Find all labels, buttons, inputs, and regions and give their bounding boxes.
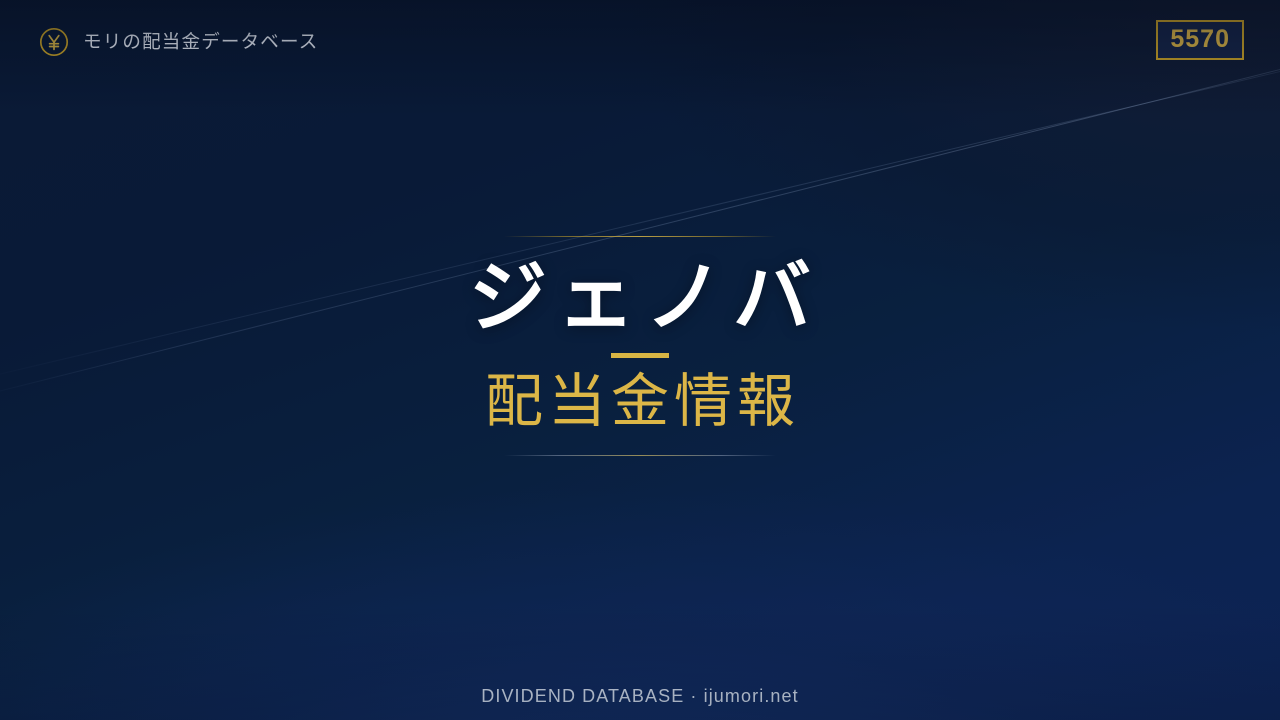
subtitle-label: 配当金情報 — [0, 370, 1280, 435]
title-bottom-rule — [504, 455, 776, 456]
company-name-title: ジェノバ — [0, 255, 1280, 339]
title-block: ジェノバ 配当金情報 — [0, 236, 1280, 456]
site-name-label: モリの配当金データベース — [83, 33, 318, 52]
gold-divider — [611, 353, 669, 358]
stock-code-badge[interactable]: 5570 — [1156, 20, 1244, 60]
yen-circle-icon — [38, 26, 70, 58]
footer-credit: DIVIDEND DATABASE · ijumori.net — [0, 686, 1280, 707]
page-header: モリの配当金データベース 5570 — [0, 0, 1280, 90]
slide-canvas: モリの配当金データベース 5570 ジェノバ 配当金情報 DIVIDEND DA… — [0, 0, 1280, 720]
brand-lockup[interactable]: モリの配当金データベース — [38, 26, 318, 58]
title-top-rule — [504, 236, 776, 237]
